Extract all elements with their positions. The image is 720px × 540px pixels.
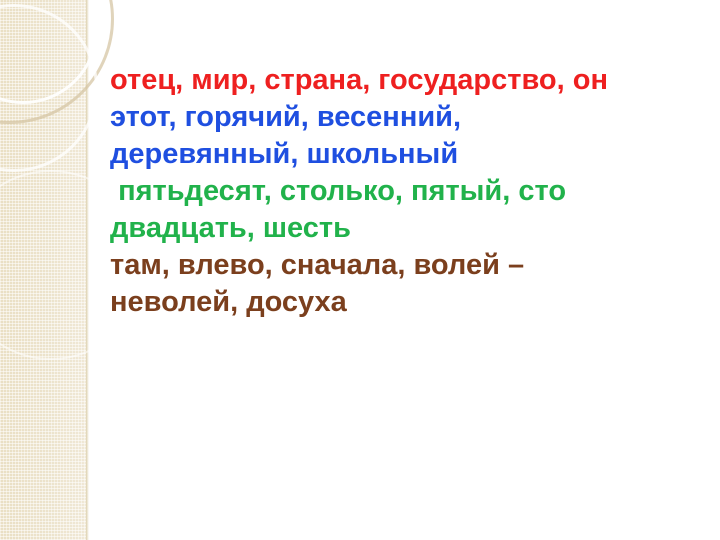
adverb-line-1: там, влево, сначала, волей – <box>110 247 702 284</box>
adjective-line-1: этот, горячий, весенний, <box>110 99 702 136</box>
noun-line-1: отец, мир, страна, государство, он <box>110 62 702 99</box>
adjective-line-2: деревянный, школьный <box>110 136 702 173</box>
numeral-line-2: двадцать, шесть <box>110 210 702 247</box>
slide: отец, мир, страна, государство, он этот,… <box>0 0 720 540</box>
word-list: отец, мир, страна, государство, он этот,… <box>110 62 702 321</box>
numeral-line-1: пятьдесят, столько, пятый, сто <box>110 173 702 210</box>
adverb-line-2: неволей, досуха <box>110 284 702 321</box>
